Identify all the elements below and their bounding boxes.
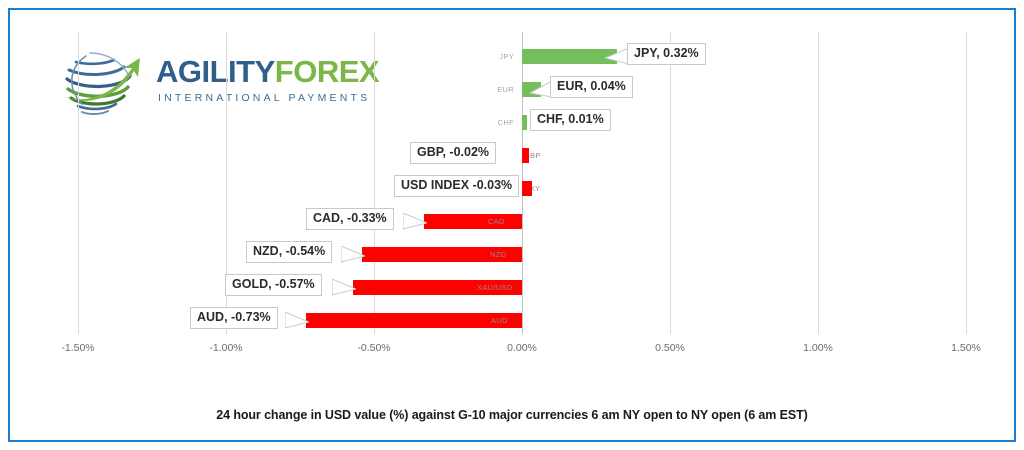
data-label-gold: GOLD, -0.57% xyxy=(225,274,322,296)
bar-row-aud[interactable]: AUD AUD, -0.73% xyxy=(78,306,966,336)
data-label-chf: CHF, 0.01% xyxy=(530,109,611,131)
leader-line-gold xyxy=(332,279,356,297)
bar-jpy[interactable] xyxy=(522,49,617,64)
data-label-jpy: JPY, 0.32% xyxy=(627,43,706,65)
axis-label-eur: EUR xyxy=(452,85,514,94)
x-tick--1.00: -1.00% xyxy=(209,342,242,354)
chart-plot-area: JPY JPY, 0.32% EUR EUR, 0.04% CHF CHF, 0… xyxy=(78,32,966,334)
bar-cad[interactable] xyxy=(424,214,522,229)
chart-frame-border: AGILITYFOREX INTERNATIONAL PAYMENTS JPY … xyxy=(8,8,1016,442)
axis-label-chf: CHF xyxy=(452,118,514,127)
x-tick-1.50: 1.50% xyxy=(951,342,981,354)
data-label-nzd: NZD, -0.54% xyxy=(246,241,332,263)
leader-line-cad xyxy=(403,213,427,231)
bar-row-jpy[interactable]: JPY JPY, 0.32% xyxy=(78,42,966,72)
x-axis-tick-labels: -1.50% -1.00% -0.50% 0.00% 0.50% 1.00% 1… xyxy=(78,338,966,358)
bar-row-chf[interactable]: CHF CHF, 0.01% xyxy=(78,108,966,138)
bar-aud[interactable] xyxy=(306,313,522,328)
axis-label-cad: CAD xyxy=(488,217,505,226)
bar-usd-index[interactable] xyxy=(522,181,532,196)
bar-row-gold[interactable]: XAU/USD GOLD, -0.57% xyxy=(78,273,966,303)
bar-row-eur[interactable]: EUR EUR, 0.04% xyxy=(78,75,966,105)
forex-daily-change-chart-image: AGILITYFOREX INTERNATIONAL PAYMENTS JPY … xyxy=(0,0,1024,450)
data-label-usd-index: USD INDEX -0.03% xyxy=(394,175,519,197)
bar-chf[interactable] xyxy=(522,115,527,130)
axis-label-nzd: NZD xyxy=(490,250,506,259)
bar-row-cad[interactable]: CAD CAD, -0.33% xyxy=(78,207,966,237)
gridline-1.50 xyxy=(966,32,967,334)
x-tick-0.50: 0.50% xyxy=(655,342,685,354)
x-tick-1.00: 1.00% xyxy=(803,342,833,354)
axis-label-xau-usd: XAU/USD xyxy=(477,283,512,292)
leader-line-jpy xyxy=(605,48,629,66)
data-label-gbp: GBP, -0.02% xyxy=(410,142,496,164)
leader-line-aud xyxy=(285,312,309,330)
axis-label-jpy: JPY xyxy=(452,52,514,61)
bar-row-usd-index[interactable]: DXY USD INDEX -0.03% xyxy=(78,174,966,204)
axis-label-aud: AUD xyxy=(491,316,508,325)
bar-row-nzd[interactable]: NZD NZD, -0.54% xyxy=(78,240,966,270)
data-label-eur: EUR, 0.04% xyxy=(550,76,633,98)
bar-gbp[interactable] xyxy=(522,148,529,163)
x-tick--0.50: -0.50% xyxy=(357,342,390,354)
leader-line-eur xyxy=(530,81,552,99)
bar-row-gbp[interactable]: GBP GBP, -0.02% xyxy=(78,141,966,171)
chart-caption: 24 hour change in USD value (%) against … xyxy=(10,408,1014,422)
data-label-aud: AUD, -0.73% xyxy=(190,307,278,329)
data-label-cad: CAD, -0.33% xyxy=(306,208,394,230)
x-tick--1.50: -1.50% xyxy=(61,342,94,354)
x-tick-0.00: 0.00% xyxy=(507,342,537,354)
leader-line-nzd xyxy=(341,246,365,264)
